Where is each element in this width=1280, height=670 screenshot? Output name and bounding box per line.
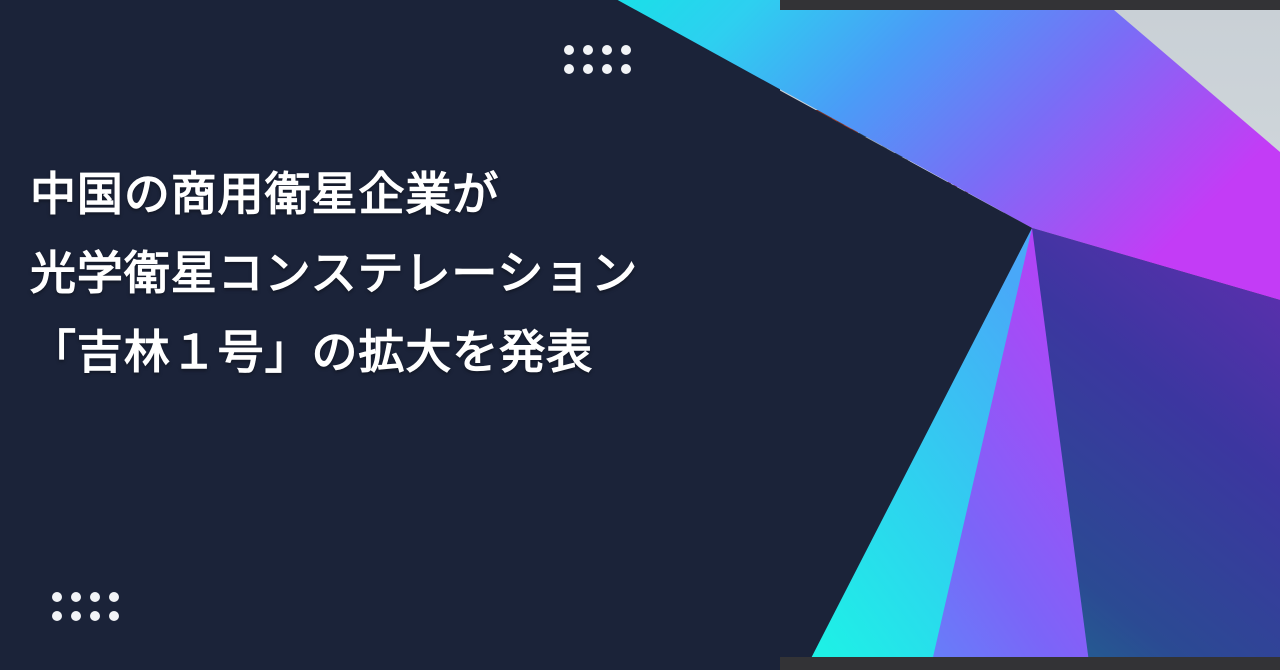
letterbox-bar-bottom	[780, 657, 1280, 670]
page-title: 中国の商用衛星企業が 光学衛星コンステレーション 「吉林１号」の拡大を発表	[30, 155, 790, 392]
dot	[602, 64, 612, 74]
dot	[564, 45, 574, 55]
decorative-dots-bottom	[52, 592, 119, 621]
dot	[90, 611, 100, 621]
card-content: 中国の商用衛星企業が 光学衛星コンステレーション 「吉林１号」の拡大を発表	[0, 0, 1280, 670]
dot	[583, 45, 593, 55]
dot	[602, 45, 612, 55]
dot	[71, 592, 81, 602]
letterbox-bar-top	[780, 0, 1280, 10]
article-hero-card: 射中心	[0, 0, 1280, 670]
decorative-dots-top	[564, 45, 631, 74]
dot	[90, 592, 100, 602]
dot	[564, 64, 574, 74]
dot	[52, 611, 62, 621]
dot	[71, 611, 81, 621]
dot	[109, 611, 119, 621]
dot	[109, 592, 119, 602]
dot	[52, 592, 62, 602]
dot	[621, 64, 631, 74]
dot	[583, 64, 593, 74]
dot	[621, 45, 631, 55]
